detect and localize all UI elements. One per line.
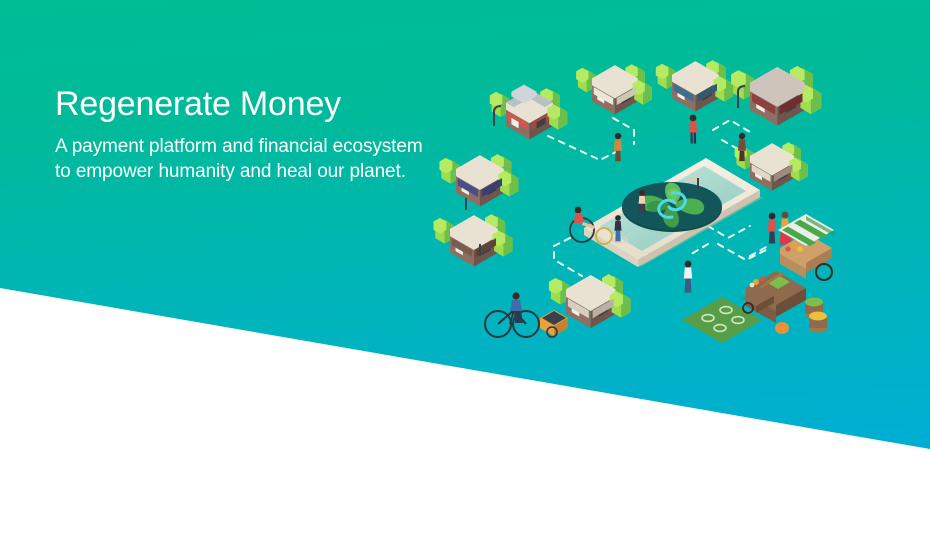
hero-copy-block: Regenerate Money A payment platform and …	[55, 84, 485, 184]
phone-logo	[622, 182, 722, 232]
cargo-trailer	[540, 310, 568, 337]
shop-top-right	[656, 60, 733, 111]
gardener-figure	[684, 261, 692, 293]
page-title: Regenerate Money	[55, 84, 485, 124]
shop-top-center	[576, 64, 652, 114]
shop-left-upper	[439, 154, 518, 206]
isometric-ecosystem-graphic	[450, 48, 870, 368]
hero-banner: Regenerate Money A payment platform and …	[0, 0, 930, 535]
hero-subtitle: A payment platform and financial ecosyst…	[55, 134, 485, 184]
community-garden	[682, 261, 784, 343]
hero-illustration	[450, 48, 870, 368]
shop-far-right	[731, 66, 821, 126]
barrels	[805, 298, 827, 333]
pumpkin	[775, 322, 789, 334]
phone-device	[584, 158, 762, 267]
shop-top-left	[490, 85, 567, 140]
